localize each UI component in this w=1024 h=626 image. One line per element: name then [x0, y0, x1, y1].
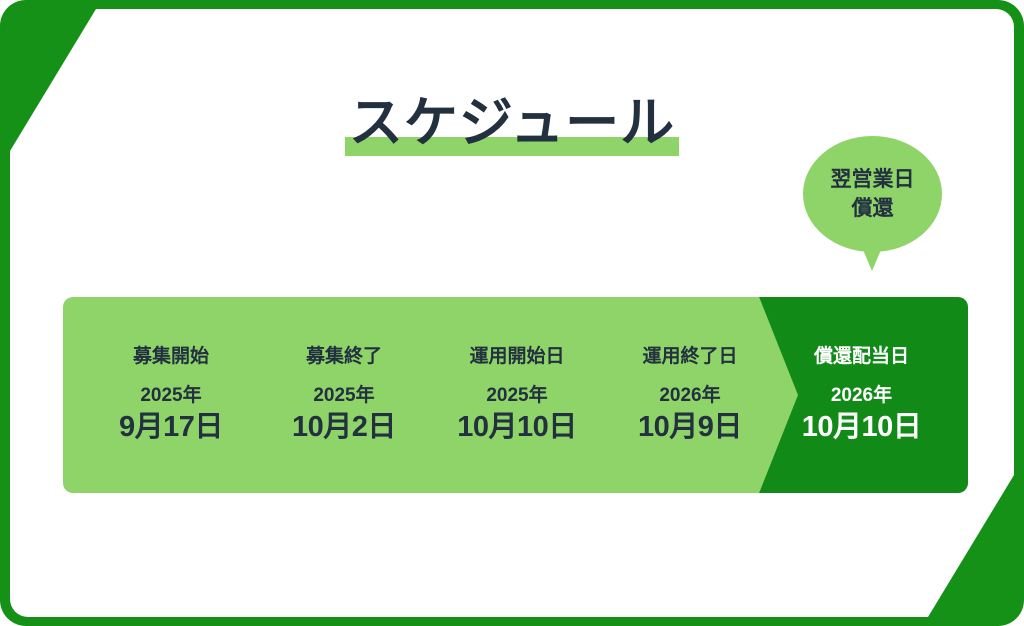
schedule-timeline: 募集開始 2025年 9月17日 募集終了 2025年 10月2日 運用開始日 …	[63, 297, 968, 493]
bubble-line-1: 翌営業日	[831, 165, 915, 194]
step-shape	[63, 297, 279, 493]
schedule-infographic: スケジュール 翌営業日 償還 募集開始 2025年 9月17日 募集終了 202…	[0, 0, 1024, 626]
timeline-step-recruit-start[interactable]: 募集開始 2025年 9月17日	[63, 297, 279, 493]
next-business-day-redemption-bubble: 翌営業日 償還	[803, 136, 942, 252]
title-text: スケジュール	[349, 86, 675, 160]
bubble-line-2: 償還	[852, 194, 894, 223]
bubble-tail-icon	[858, 238, 886, 271]
